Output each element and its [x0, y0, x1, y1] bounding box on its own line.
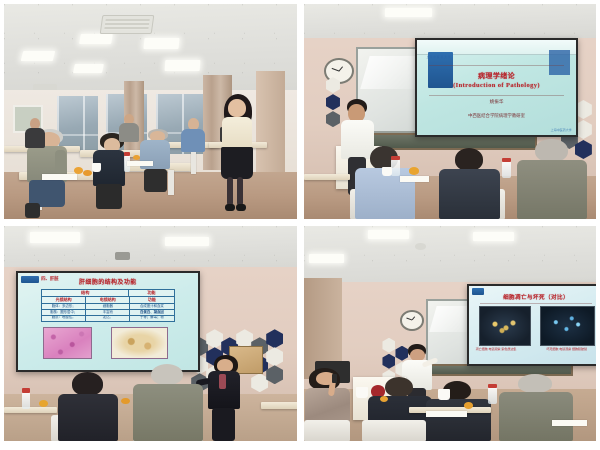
notebook [426, 411, 467, 417]
bottle-cap [22, 388, 31, 392]
water-bottle [391, 159, 400, 176]
orange-fruit [464, 402, 473, 408]
photo-collage: 上海中医药大学 病理学绪论 (Introduction of Pathology… [0, 0, 600, 450]
slide-divider [429, 65, 563, 66]
hexagon-tile [266, 347, 283, 366]
notebook [552, 420, 587, 426]
ceiling-air-vent [99, 15, 153, 34]
slide-presenter-name: 姚振华 [417, 99, 577, 105]
slide-table: 结构 功能 光镜结构 电镜结构 功能 胞体：多边形； 细胞器 合成胆汁和血浆 [41, 289, 174, 322]
projection-screen: 四、肝脏 肝细胞的结构及功能 结构 功能 光镜结构 电镜结构 功能 胞体：多边形… [16, 271, 200, 372]
smartphone [332, 374, 337, 384]
audience-person [89, 133, 142, 215]
apoptosis-micrograph [479, 306, 532, 345]
hexagon-tile [266, 365, 283, 384]
slide-title: 细胞凋亡与坏死（对比） [469, 293, 596, 301]
table-cell: 白蛋白、凝血因 [130, 310, 173, 315]
ceiling-light-panel [79, 34, 113, 44]
table-cell: 丰富而 [86, 310, 130, 315]
audience-person [57, 372, 121, 441]
clock-hour-hand [339, 66, 343, 71]
hexagon-tile [236, 329, 253, 348]
slide-divider [480, 303, 592, 304]
table-column-header: 功能 [130, 297, 173, 303]
necrosis-micrograph [540, 306, 595, 345]
water-bottle [502, 161, 511, 178]
audience-person [438, 148, 502, 219]
ceiling-light-panel [368, 230, 409, 239]
ceiling-light-panel [309, 254, 344, 263]
photo-top-left [4, 4, 297, 219]
table-cell: 胞质：嗜酸性。 [42, 316, 86, 321]
torso [426, 399, 490, 441]
desk [261, 402, 296, 408]
ceiling [304, 226, 597, 291]
head [151, 364, 183, 386]
slide-footer: 上海中医药大学 [551, 128, 572, 132]
photo-top-right: 上海中医药大学 病理学绪论 (Introduction of Pathology… [304, 4, 597, 219]
table-group-header: 功能 [129, 290, 173, 296]
torso [58, 394, 118, 441]
slide: 上海中医药大学 病理学绪论 (Introduction of Pathology… [417, 40, 577, 135]
slide-title-en: (Introduction of Pathology) [417, 82, 577, 89]
table-cell: 子等；解毒；物 [130, 316, 173, 321]
projection-screen: 上海中医药大学 病理学绪论 (Introduction of Pathology… [415, 38, 579, 137]
head [217, 359, 233, 372]
image-caption: 坏死细胞 电镜观察 细胞膜破裂 [500, 347, 596, 351]
table-row: 光镜结构 电镜结构 功能 [42, 297, 173, 304]
table-column-header: 光镜结构 [42, 297, 86, 303]
head [535, 139, 567, 161]
desk [4, 407, 57, 413]
presenter [203, 355, 250, 441]
bottle-cap [502, 158, 511, 162]
paper-cup [356, 387, 368, 398]
chair [362, 420, 426, 442]
audience-person [133, 364, 203, 441]
table-column-header: 电镜结构 [86, 297, 130, 303]
ceiling-light-panel [385, 8, 432, 17]
ceiling-light-panel [20, 51, 55, 61]
slide-title: 肝细胞的结构及功能 [18, 277, 198, 286]
shoe [236, 204, 246, 211]
audience-person [499, 374, 572, 441]
table-cell: 合成胆汁和血浆 [130, 304, 173, 309]
torso [119, 123, 139, 141]
clock-minute-hand [407, 318, 413, 321]
shoe [225, 204, 235, 211]
presenter [212, 94, 268, 214]
torso [499, 392, 572, 441]
orange-fruit [83, 170, 92, 176]
leg [144, 169, 168, 192]
torso [439, 169, 499, 219]
torso [25, 128, 45, 148]
orange-fruit [409, 167, 419, 174]
torso [133, 384, 203, 441]
hexagon-tile [382, 338, 395, 353]
audience-person-rear [118, 114, 141, 142]
clock-minute-hand [332, 68, 340, 72]
ceiling-light-panel [144, 38, 180, 49]
chair [304, 420, 351, 442]
hexagon-tile [251, 373, 268, 392]
ceiling-light-panel [30, 232, 80, 243]
ceiling-light-panel [164, 60, 200, 71]
head [228, 99, 246, 117]
hexagon-tile [266, 329, 283, 348]
table-row: 结构 功能 [42, 290, 173, 297]
table-cell: 细胞器 [86, 304, 130, 309]
slide: 四、肝脏 肝细胞的结构及功能 结构 功能 光镜结构 电镜结构 功能 胞体：多边形… [18, 273, 198, 370]
bottle-cap [391, 156, 400, 160]
leg [237, 177, 243, 206]
table-cell: 胞核：圆形居中； [42, 310, 86, 315]
leg [25, 203, 39, 218]
leg [96, 184, 122, 209]
projector [115, 252, 130, 261]
table-group-header: 结构 [42, 290, 129, 296]
torso [181, 129, 204, 152]
wall-display: 细胞凋亡与坏死（对比） 凋亡细胞 电镜观察 染色质边集 坏死细胞 电镜观察 细胞… [467, 284, 596, 366]
paper-cup [92, 163, 101, 172]
audience-person-rear [24, 118, 47, 148]
slide-affiliation: 中西医结合学院病理学教研室 [417, 113, 577, 119]
head [385, 377, 413, 398]
hexagon-tile [382, 354, 395, 369]
audience-person [517, 139, 587, 219]
paper-cup [382, 167, 392, 176]
smoke-detector [415, 243, 427, 249]
table-cell: 胞体：多边形； [42, 304, 86, 309]
ceiling-light-panel [73, 64, 104, 73]
hexagon-tile [206, 329, 223, 348]
slide-title-cn: 病理学绪论 [417, 71, 577, 81]
water-bottle [488, 387, 497, 404]
paper-cup [438, 389, 450, 400]
audience-person [353, 146, 417, 219]
ceiling-light-panel [473, 232, 514, 241]
ceiling-light-panel [165, 237, 209, 247]
head [455, 148, 483, 171]
torso-blazer [222, 117, 252, 150]
leg [212, 408, 234, 441]
slide-divider [429, 95, 563, 96]
hepatocyte-diagram-image [111, 327, 167, 358]
skirt [221, 147, 253, 178]
table-cell: 发达。 [86, 316, 130, 321]
water-bottle [22, 392, 31, 409]
notepad [127, 161, 153, 166]
photo-bottom-right: 细胞凋亡与坏死（对比） 凋亡细胞 电镜观察 染色质边集 坏死细胞 电镜观察 细胞… [304, 226, 597, 441]
desk [304, 174, 351, 180]
arm [55, 150, 66, 173]
bottle-cap [488, 384, 497, 388]
torso [517, 160, 587, 219]
slide-header-text: 上海中医药大学 [426, 55, 451, 59]
audience-person-rear [180, 118, 209, 152]
blouse [219, 374, 226, 389]
leg [227, 177, 233, 206]
bottle-cap [124, 152, 130, 155]
table-row: 胞质：嗜酸性。 发达。 子等；解毒；物 [42, 316, 173, 321]
notepad [400, 176, 429, 182]
slide: 细胞凋亡与坏死（对比） 凋亡细胞 电镜观察 染色质边集 坏死细胞 电镜观察 细胞… [469, 286, 596, 364]
photo-bottom-left: 四、肝脏 肝细胞的结构及功能 结构 功能 光镜结构 电镜结构 功能 胞体：多边形… [4, 226, 297, 441]
notepad [42, 174, 77, 180]
histology-image-he-stain [43, 327, 92, 358]
head [518, 374, 552, 393]
hexagon-tile [326, 77, 340, 93]
head [72, 372, 103, 395]
